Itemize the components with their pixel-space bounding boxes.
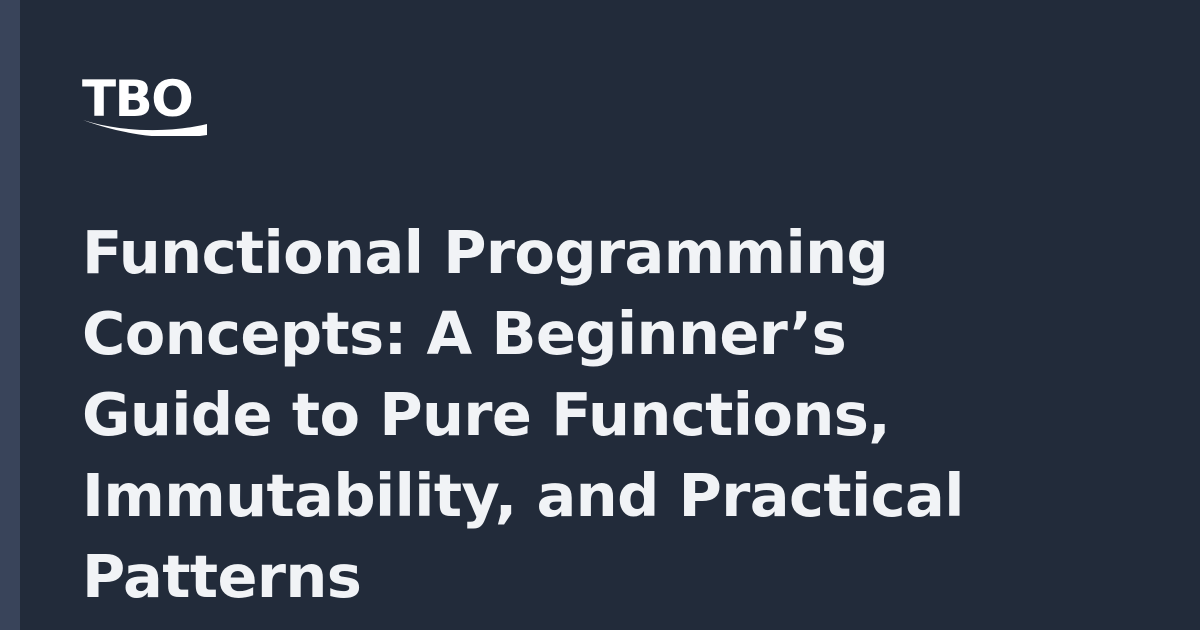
page-title: Functional Programming Concepts: A Begin…	[82, 212, 1042, 617]
social-share-card: TBO Functional Programming Concepts: A B…	[0, 0, 1200, 630]
brand-logo-wordmark: TBO	[82, 74, 212, 124]
tbo-swoosh-icon	[83, 118, 207, 136]
left-accent-bar	[0, 0, 20, 630]
brand-logo[interactable]: TBO	[82, 74, 212, 134]
card-content: TBO Functional Programming Concepts: A B…	[82, 0, 1082, 630]
